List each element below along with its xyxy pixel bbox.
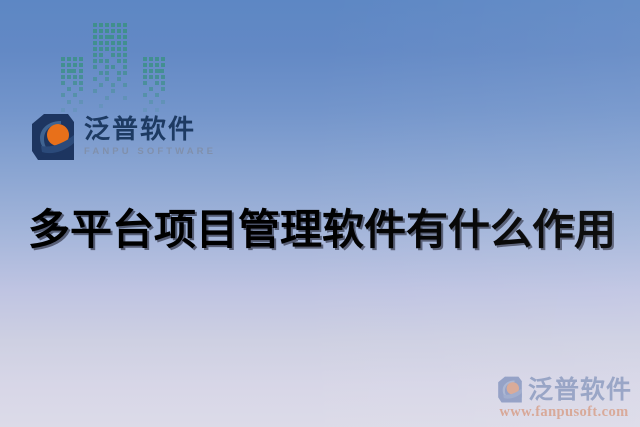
watermark-logo-row: 泛普软件	[496, 376, 632, 403]
banner-root: 泛普软件 FANPU SOFTWARE 多平台项目管理软件有什么作用 泛普软件 …	[0, 0, 640, 427]
watermark-name-cn: 泛普软件	[528, 377, 632, 402]
brand-name-cn: 泛普软件	[84, 117, 216, 143]
pixel-skyline-icon	[58, 18, 174, 118]
brand-name-en: FANPU SOFTWARE	[84, 147, 216, 157]
brand-lockup: 泛普软件 FANPU SOFTWARE	[31, 113, 216, 161]
watermark-url: www.fanpusoft.com	[499, 405, 628, 420]
fanpu-hexagon-logo-icon	[31, 113, 75, 161]
watermark: 泛普软件 www.fanpusoft.com	[496, 376, 632, 420]
pixel-skyline-decoration	[58, 18, 174, 118]
page-title: 多平台项目管理软件有什么作用	[28, 196, 628, 257]
brand-wordmark: 泛普软件 FANPU SOFTWARE	[84, 117, 216, 157]
fanpu-hexagon-logo-icon	[496, 376, 524, 403]
